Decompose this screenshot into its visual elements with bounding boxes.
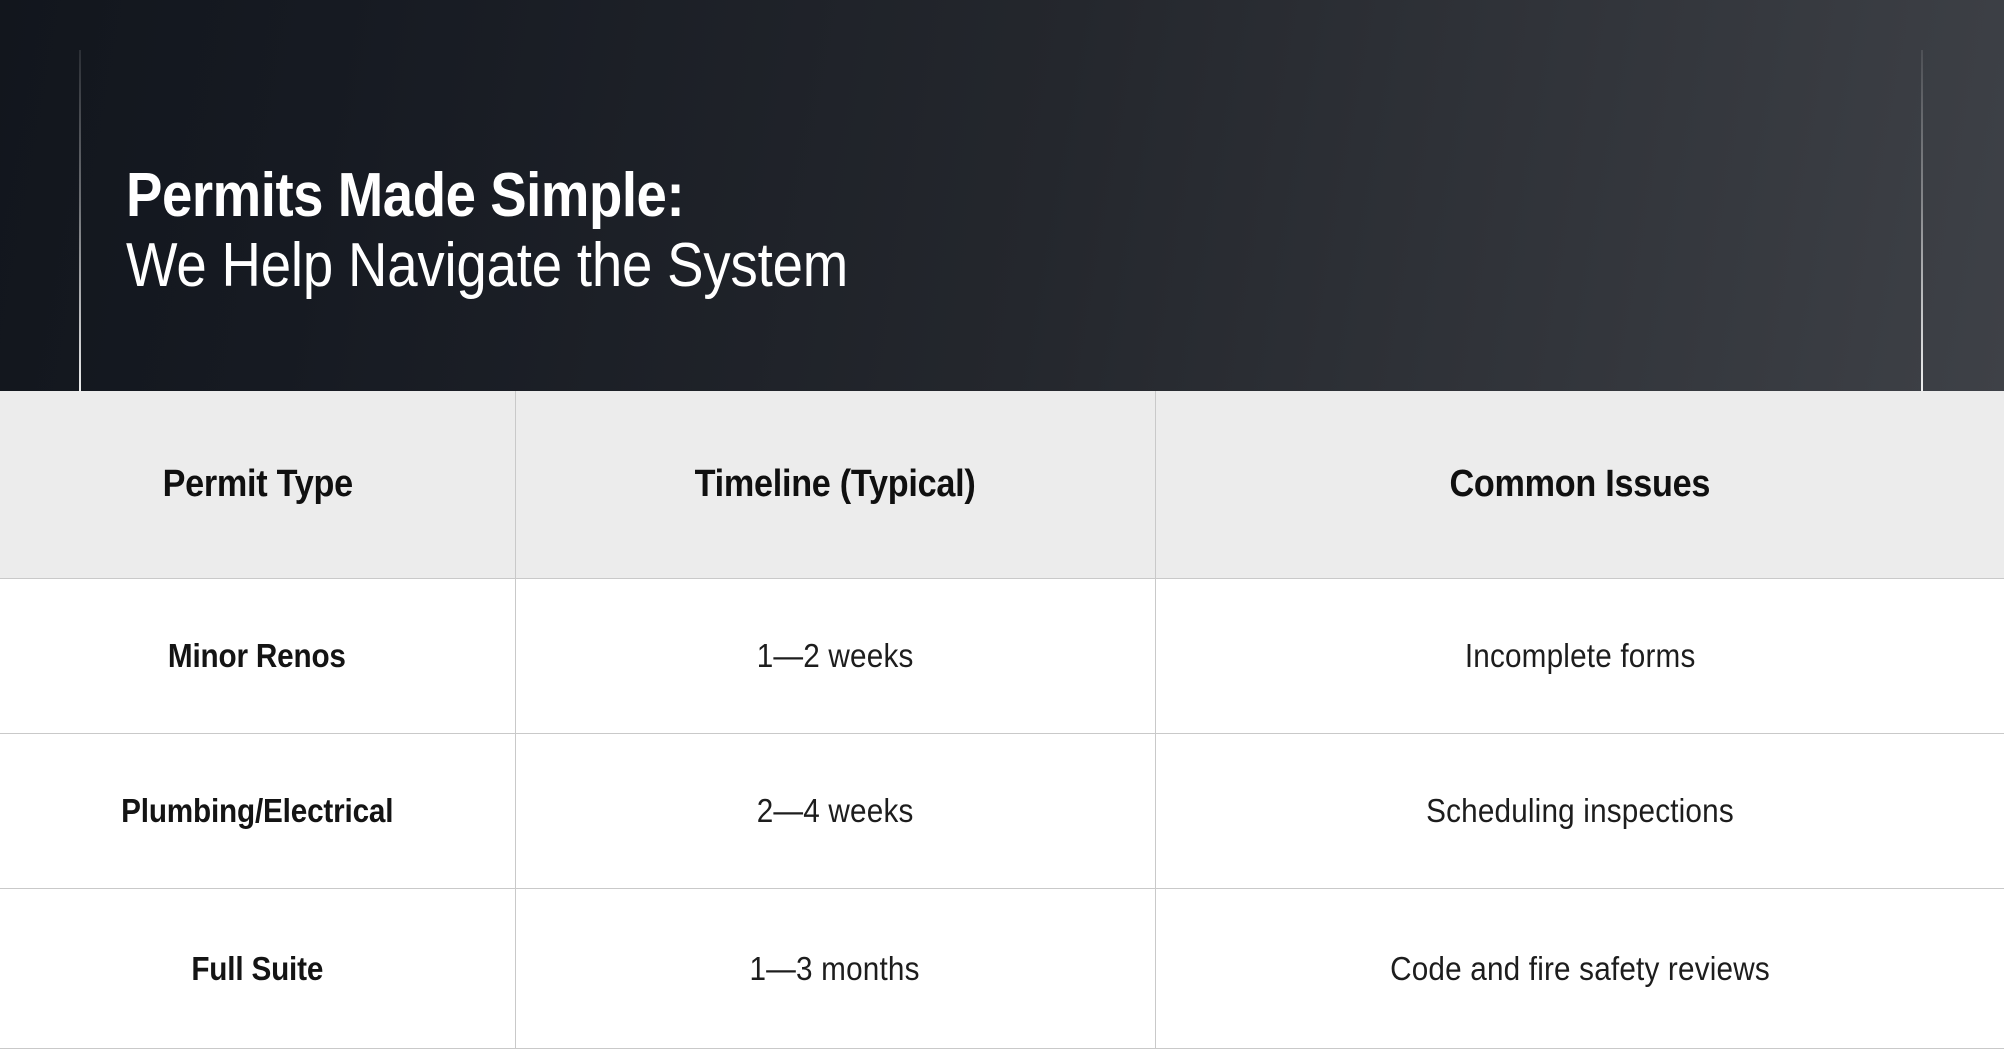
cell-common-issues-text: Code and fire safety reviews — [1390, 950, 1770, 988]
column-header-timeline-label: Timeline (Typical) — [695, 463, 976, 506]
cell-timeline-text: 1—2 weeks — [757, 637, 914, 675]
cell-timeline: 2—4 weeks — [515, 734, 1155, 889]
column-header-common-issues-label: Common Issues — [1449, 463, 1710, 506]
column-header-common-issues: Common Issues — [1155, 391, 2004, 579]
table-header-row: Permit Type Timeline (Typical) Common Is… — [0, 391, 2004, 579]
cell-common-issues: Incomplete forms — [1155, 579, 2004, 734]
cell-common-issues-text: Incomplete forms — [1464, 637, 1695, 675]
cell-permit-type: Minor Renos — [0, 579, 515, 734]
accent-rule-left — [79, 50, 81, 391]
cell-common-issues: Code and fire safety reviews — [1155, 889, 2004, 1049]
table-header: Permit Type Timeline (Typical) Common Is… — [0, 391, 2004, 579]
table-row: Minor Renos 1—2 weeks Incomplete forms — [0, 579, 2004, 734]
slide-canvas: Permits Made Simple: We Help Navigate th… — [0, 0, 2004, 1050]
cell-common-issues-text: Scheduling inspections — [1426, 792, 1734, 830]
cell-timeline-text: 2—4 weeks — [757, 792, 914, 830]
column-header-timeline: Timeline (Typical) — [515, 391, 1155, 579]
accent-rule-right — [1921, 50, 1923, 391]
cell-timeline: 1—3 months — [515, 889, 1155, 1049]
cell-permit-type: Plumbing/Electrical — [0, 734, 515, 889]
cell-permit-type-text: Minor Renos — [168, 637, 346, 675]
hero-title: Permits Made Simple: We Help Navigate th… — [126, 165, 947, 297]
table-row: Plumbing/Electrical 2—4 weeks Scheduling… — [0, 734, 2004, 889]
permits-table: Permit Type Timeline (Typical) Common Is… — [0, 391, 2004, 1049]
cell-timeline-text: 1—3 months — [750, 950, 920, 988]
cell-permit-type: Full Suite — [0, 889, 515, 1049]
hero-title-line-1: Permits Made Simple: — [126, 165, 848, 227]
hero-banner: Permits Made Simple: We Help Navigate th… — [0, 0, 2004, 391]
cell-permit-type-text: Full Suite — [191, 950, 323, 988]
cell-permit-type-text: Plumbing/Electrical — [121, 792, 393, 830]
table-row: Full Suite 1—3 months Code and fire safe… — [0, 889, 2004, 1049]
column-header-permit-type: Permit Type — [0, 391, 515, 579]
hero-title-line-2: We Help Navigate the System — [126, 235, 848, 297]
cell-timeline: 1—2 weeks — [515, 579, 1155, 734]
table-body: Minor Renos 1—2 weeks Incomplete forms P… — [0, 579, 2004, 1049]
cell-common-issues: Scheduling inspections — [1155, 734, 2004, 889]
column-header-permit-type-label: Permit Type — [162, 463, 352, 506]
